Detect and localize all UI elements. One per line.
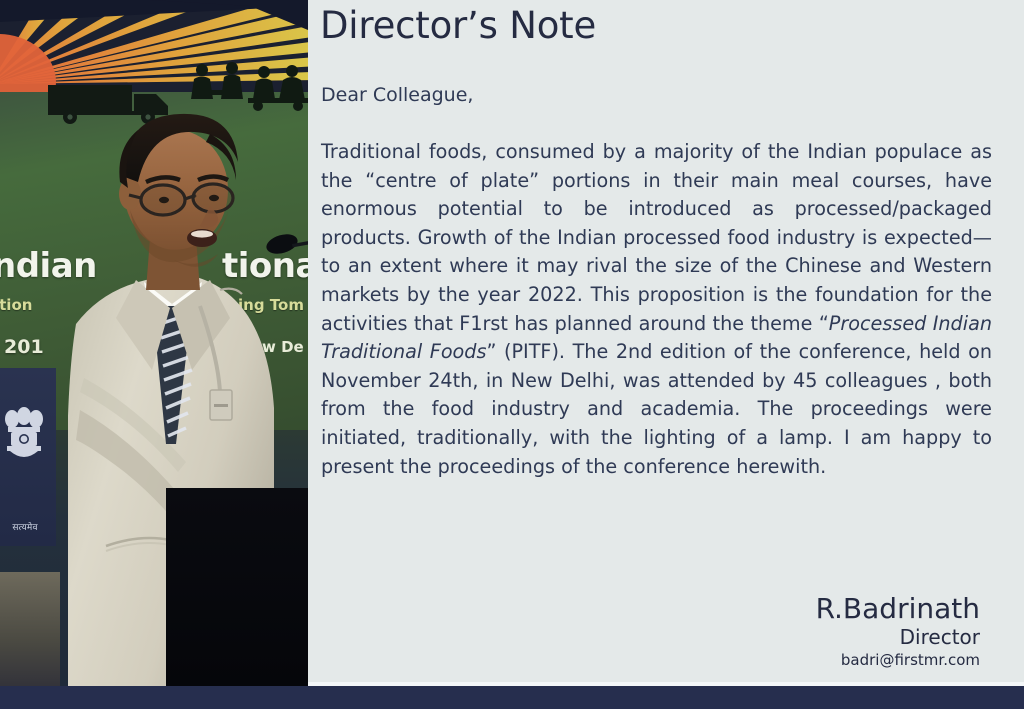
signature-block: R.Badrinath Director badri@firstmr.com [816, 593, 980, 670]
note-body-paragraph: Traditional foods, consumed by a majorit… [321, 138, 992, 481]
footer-bar [0, 686, 1024, 709]
speaker-photo: ndian tional ition ing Tom 201 w De [0, 0, 308, 686]
salutation-text: Dear Colleague, [321, 84, 473, 106]
podium [166, 488, 308, 686]
signature-email[interactable]: badri@firstmr.com [816, 650, 980, 670]
people-svg [188, 62, 308, 112]
page-title: Director’s Note [320, 4, 596, 47]
directors-note-panel: Director’s Note Dear Colleague, Traditio… [308, 0, 1024, 682]
signature-name: R.Badrinath [816, 593, 980, 625]
slide-page: ndian tional ition ing Tom 201 w De [0, 0, 1024, 709]
panel-content: Director’s Note Dear Colleague, Traditio… [320, 0, 1002, 682]
signature-role: Director [816, 625, 980, 650]
people-silhouette-icon [188, 62, 308, 112]
